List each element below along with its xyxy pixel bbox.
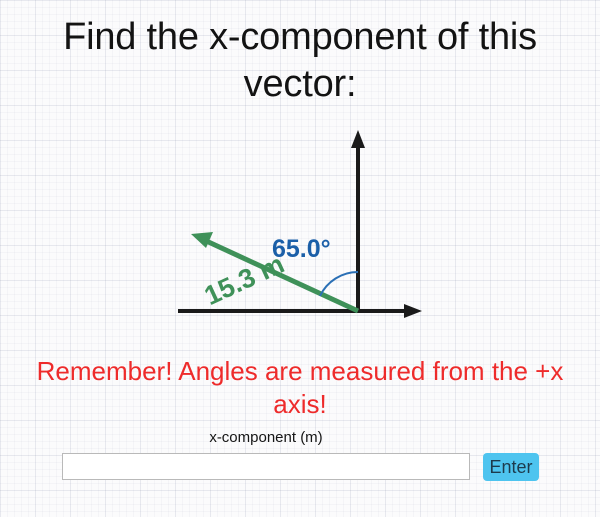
x-component-input[interactable] [62, 453, 470, 480]
y-axis [351, 130, 365, 311]
page-background: Find the x-component of this vector: 15.… [0, 0, 600, 517]
angle-label: 65.0° [272, 235, 331, 263]
x-component-field-label: x-component (m) [0, 429, 532, 446]
hint-text: Remember! Angles are measured from the +… [8, 355, 592, 421]
y-axis-arrowhead-icon [351, 130, 365, 148]
vector-diagram: 15.3 m 65.0° [0, 120, 600, 330]
x-axis-arrowhead-icon [404, 304, 422, 318]
page-title: Find the x-component of this vector: [8, 14, 592, 108]
enter-button[interactable]: Enter [483, 453, 539, 481]
angle-arc [320, 272, 358, 296]
